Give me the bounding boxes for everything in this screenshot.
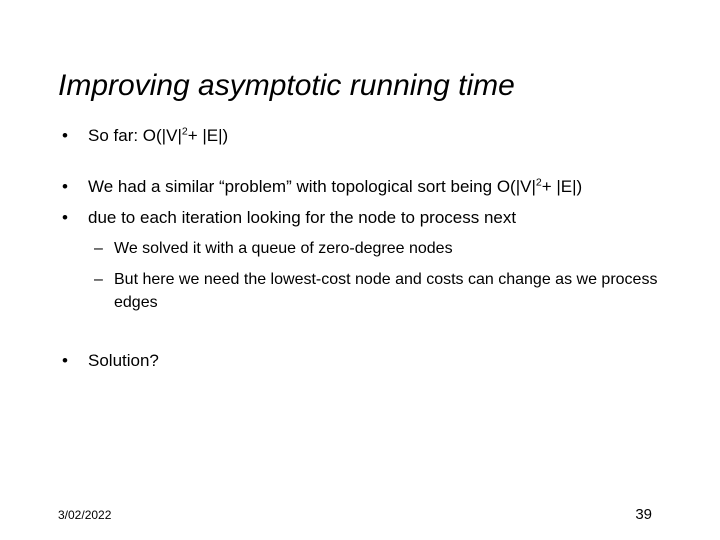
bullet-item-solution: • Solution? [56,349,686,372]
spacer [56,314,686,349]
bullet-marker-icon: • [56,349,88,372]
spacer [56,147,686,175]
bullet-marker-icon: • [56,175,88,198]
bullet-text: due to each iteration looking for the no… [88,206,686,229]
dash-marker-icon: – [94,237,114,260]
bullet-item-iteration-cost: • due to each iteration looking for the … [56,206,686,229]
bullet-marker-icon: • [56,206,88,229]
bullet-item-similar-problem: • We had a similar “problem” with topolo… [56,175,686,198]
sub-bullet-text: We solved it with a queue of zero-degree… [114,237,659,260]
bullet-text-suffix: + |E|) [188,126,228,145]
sub-bullet-item-lowest-cost: – But here we need the lowest-cost node … [56,268,686,314]
sub-bullet-item-queue-solution: – We solved it with a queue of zero-degr… [56,237,686,260]
spacer [56,260,686,268]
bullet-text: Solution? [88,349,686,372]
page-title: Improving asymptotic running time [58,68,668,104]
bullet-text: So far: O(|V|2+ |E|) [88,124,686,147]
bullet-text-suffix: + |E|) [542,177,582,196]
bullet-text-prefix: We had a similar “problem” with topologi… [88,177,536,196]
spacer [56,198,686,206]
dash-marker-icon: – [94,268,114,291]
spacer [56,229,686,237]
bullet-marker-icon: • [56,124,88,147]
slide-canvas: Improving asymptotic running time • So f… [0,0,720,540]
bullet-item-so-far: • So far: O(|V|2+ |E|) [56,124,686,147]
sub-bullet-text: But here we need the lowest-cost node an… [114,268,659,314]
bullet-text-prefix: So far: O(|V| [88,126,182,145]
footer-date: 3/02/2022 [58,508,111,522]
slide-number: 39 [600,506,652,523]
slide-body: • So far: O(|V|2+ |E|) • We had a simila… [56,124,686,372]
bullet-text: We had a similar “problem” with topologi… [88,175,686,198]
